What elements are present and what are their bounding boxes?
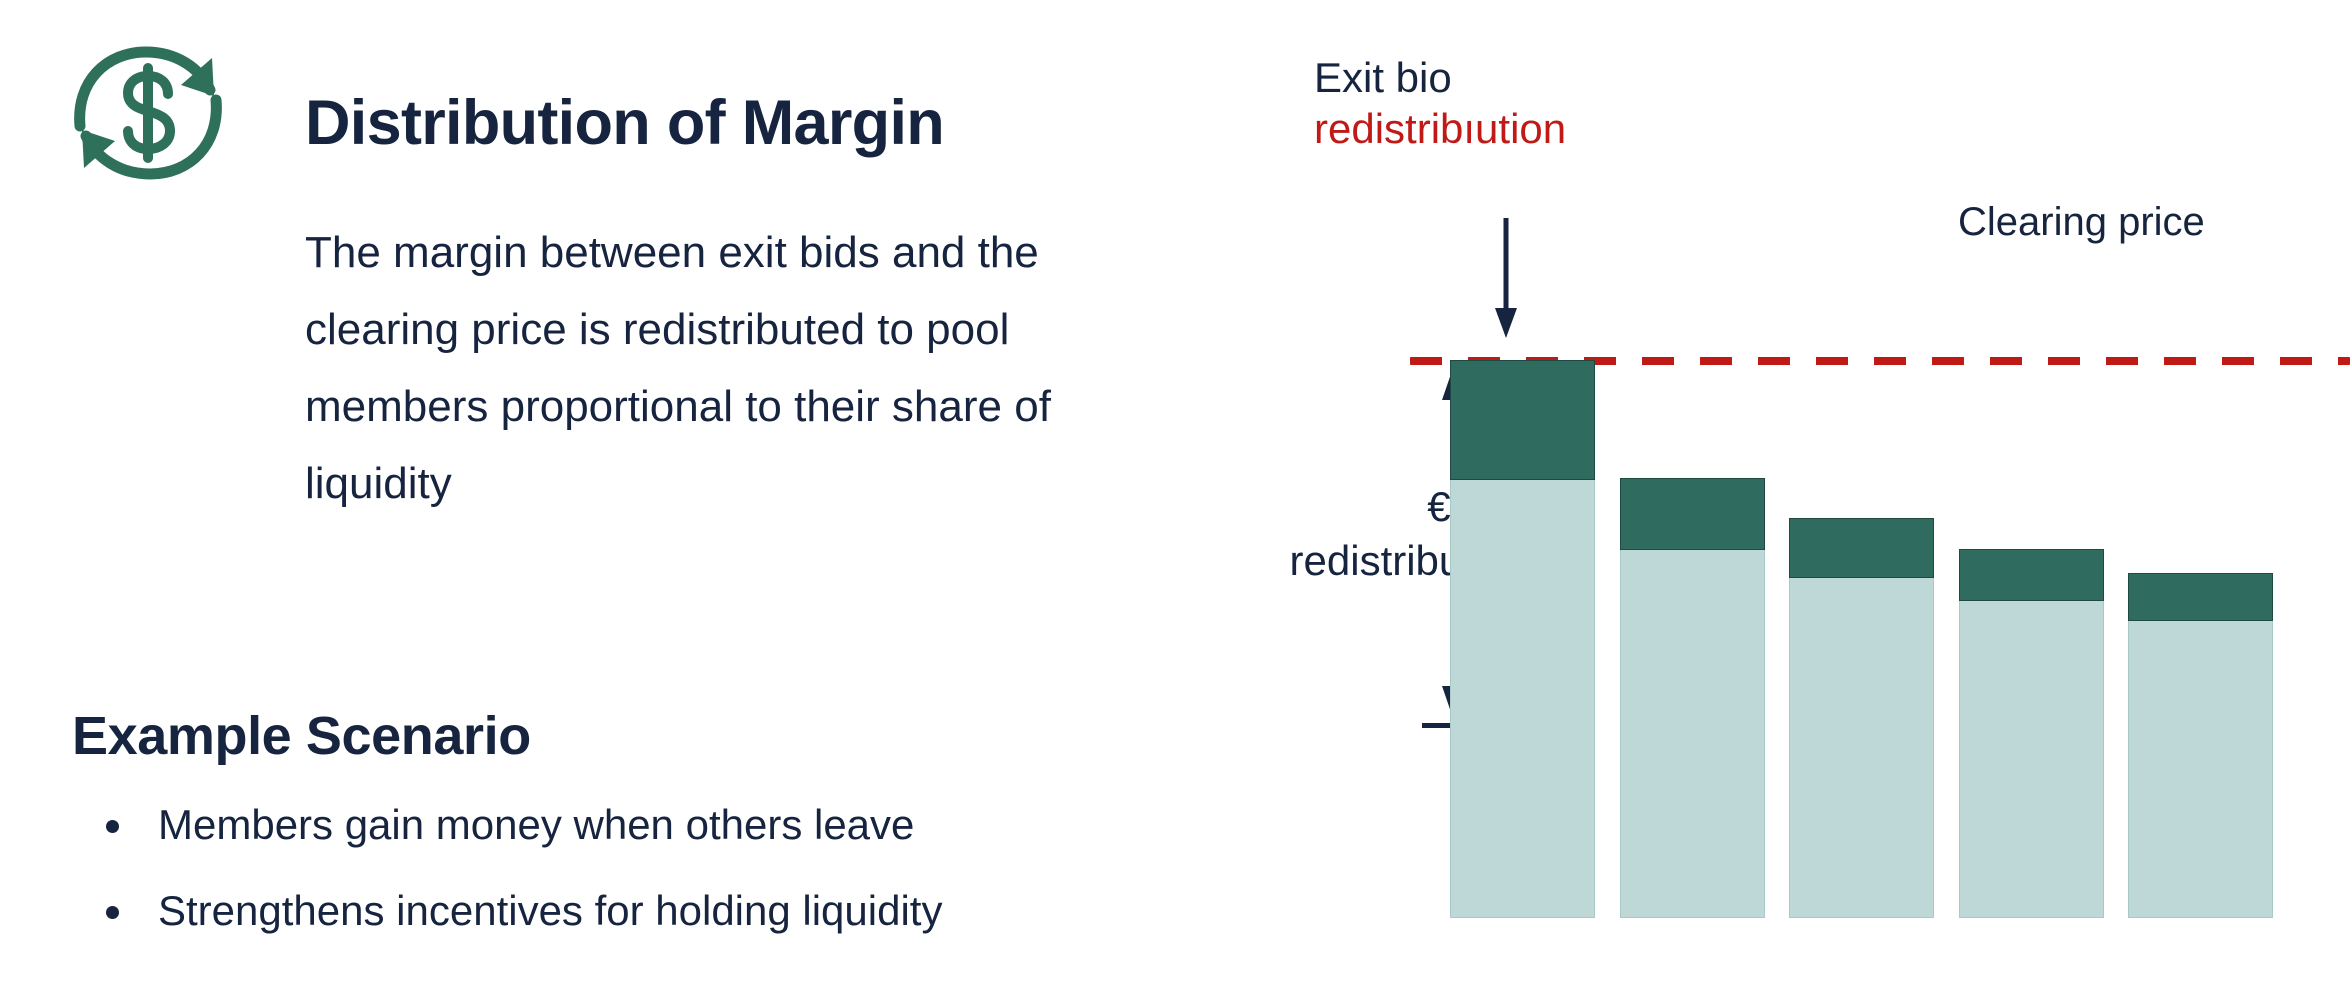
list-item-label: Strengthens incentives for holding liqui… — [158, 887, 942, 934]
chart-panel: Exit bio redistribıution Clearing price … — [1300, 0, 2350, 984]
recycle-dollar-icon — [62, 38, 234, 188]
bar-column — [1789, 518, 1934, 918]
left-content-panel: Distribution of Margin The margin betwee… — [0, 0, 1300, 984]
bar-segment-liquidity-share — [1620, 550, 1765, 918]
bar-segment-liquidity-share — [2128, 621, 2273, 918]
bar-column — [2128, 573, 2273, 918]
stacked-bars-area — [1300, 0, 2350, 984]
bar-segment-liquidity-share — [1959, 601, 2104, 918]
bar-column — [1959, 549, 2104, 918]
list-item: Strengthens incentives for holding liqui… — [100, 868, 1280, 954]
bar-segment-redistributed-margin — [2128, 573, 2273, 621]
list-item-label: Members gain money when others leave — [158, 801, 914, 848]
list-item: Members gain money when others leave — [100, 782, 1280, 868]
scenario-bullet-list: Members gain money when others leave Str… — [100, 782, 1280, 954]
bar-column — [1620, 478, 1765, 918]
bar-segment-redistributed-margin — [1450, 360, 1595, 480]
bar-segment-redistributed-margin — [1789, 518, 1934, 578]
bar-segment-redistributed-margin — [1620, 478, 1765, 550]
intro-paragraph: The margin between exit bids and the cle… — [305, 214, 1145, 522]
bar-segment-liquidity-share — [1789, 578, 1934, 918]
bullet-dot-icon — [106, 906, 119, 919]
scenario-heading: Example Scenario — [72, 705, 531, 767]
bullet-dot-icon — [106, 820, 119, 833]
bar-column — [1450, 360, 1595, 918]
bar-segment-redistributed-margin — [1959, 549, 2104, 601]
bar-segment-liquidity-share — [1450, 480, 1595, 918]
page-title: Distribution of Margin — [305, 90, 944, 156]
